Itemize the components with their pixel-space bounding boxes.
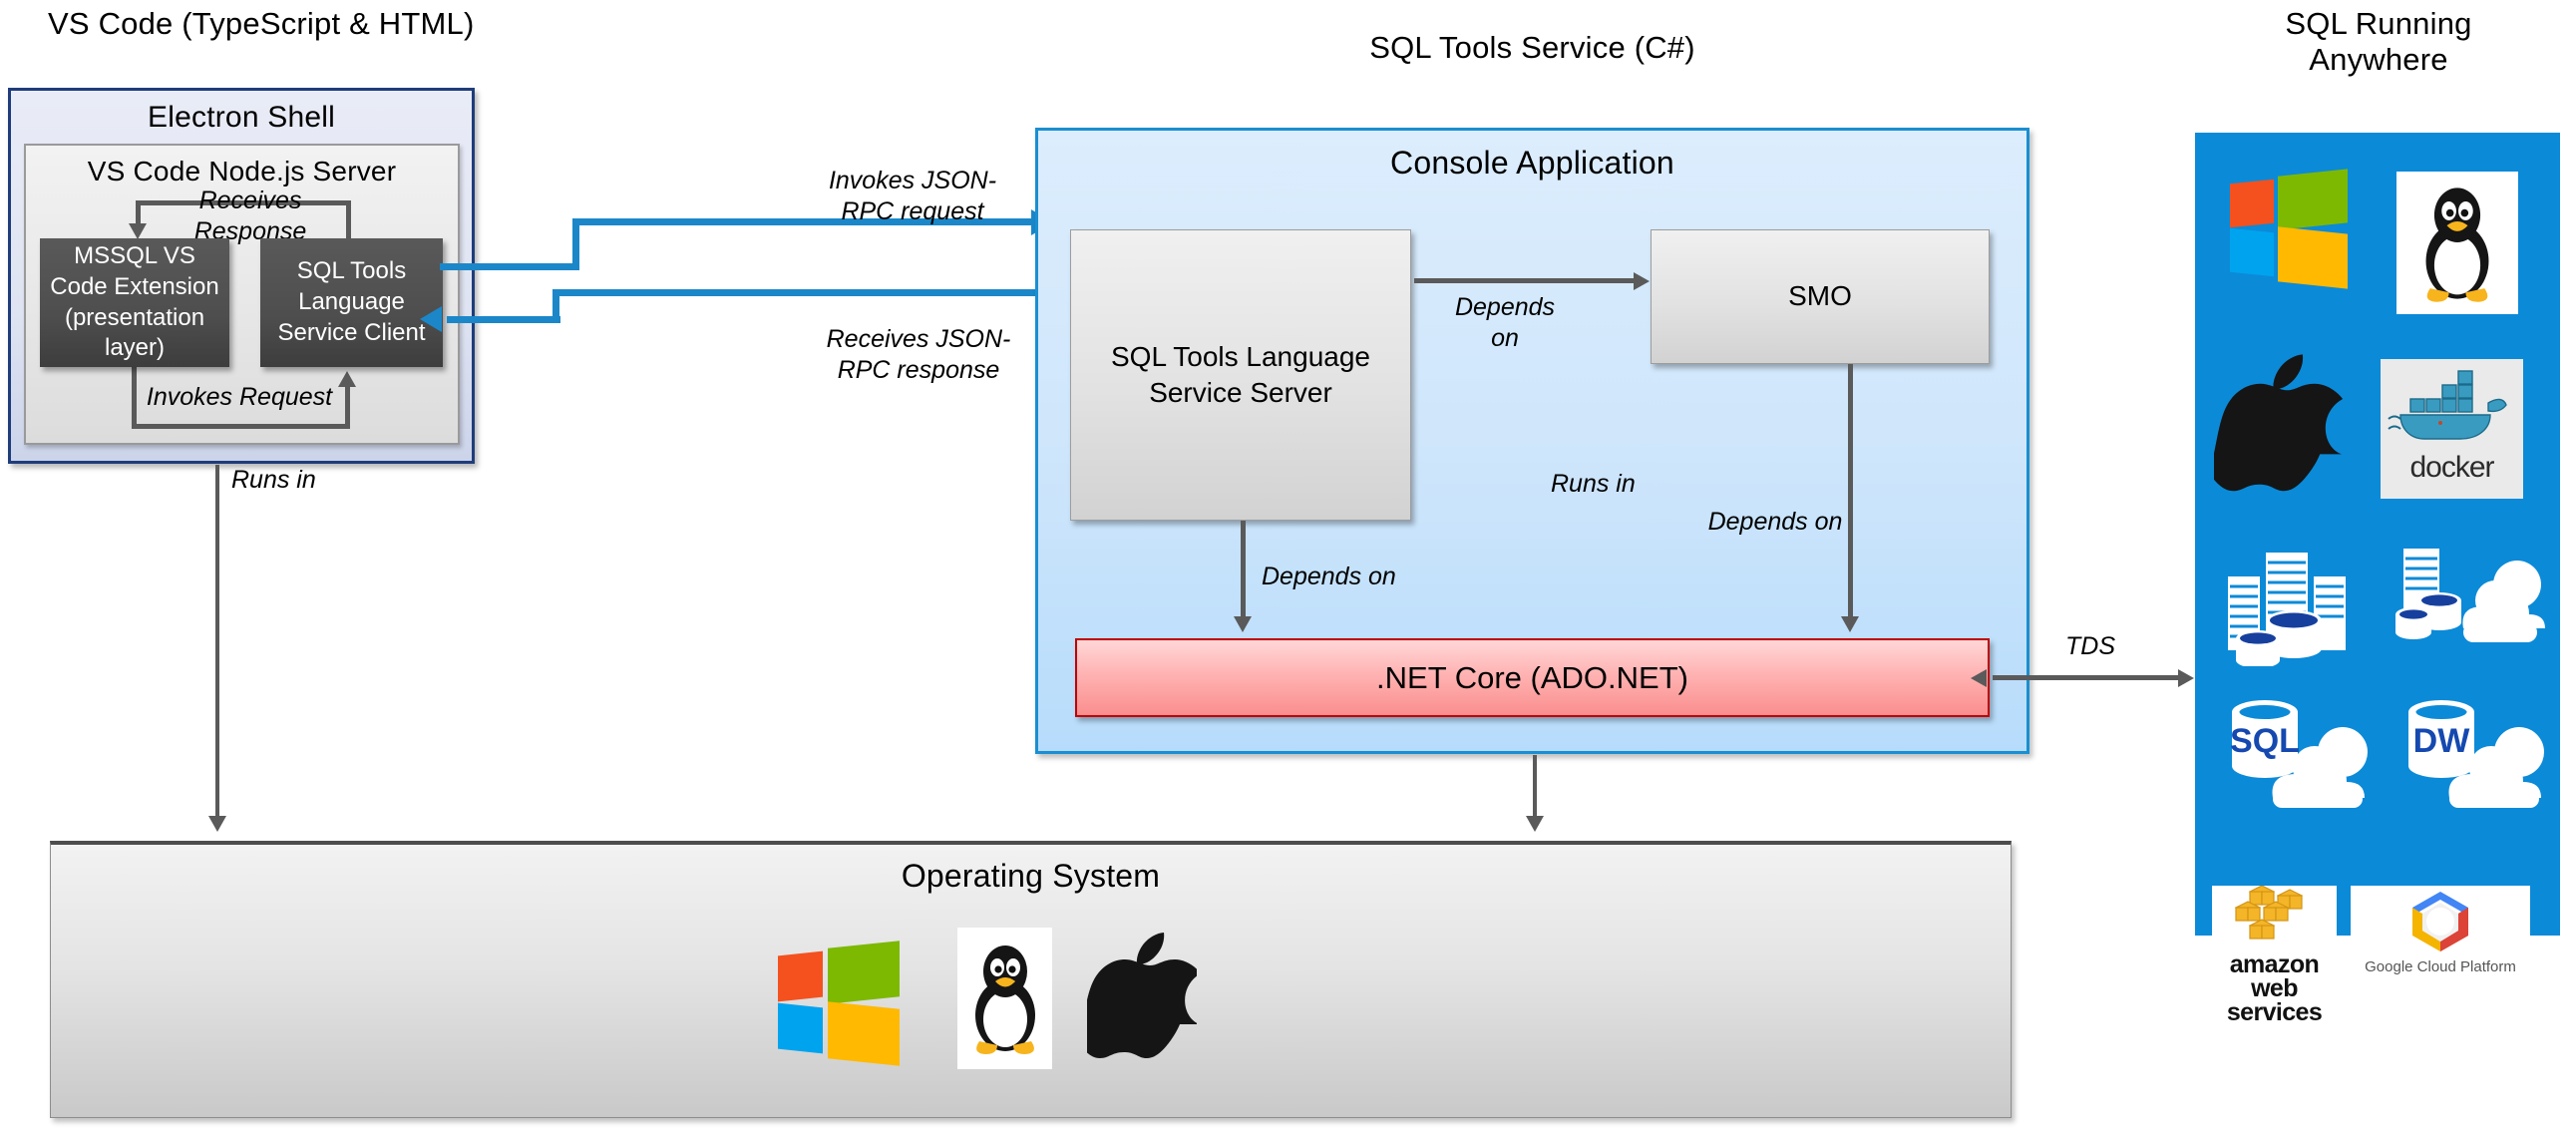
- runs-in-service-edge: [1533, 755, 1537, 820]
- docker-label: docker: [2381, 451, 2523, 485]
- sql-tools-language-service-client-box: SQL Tools Language Service Client: [260, 238, 443, 367]
- sql-tools-language-service-server-box: SQL Tools Language Service Server: [1070, 229, 1411, 521]
- tds-edge: [1993, 675, 2182, 680]
- vscode-title: VS Code (TypeScript & HTML): [10, 2, 588, 46]
- linux-tux-logo: [957, 928, 1052, 1069]
- dotnet-core-adonet-box: .NET Core (ADO.NET): [1075, 638, 1990, 717]
- runs-in-service-label: Runs in: [1551, 469, 1730, 500]
- docker-whale-logo: docker: [2381, 359, 2523, 499]
- invokes-request-edge-left: [132, 367, 137, 428]
- server-to-smo-label: Depends on: [1430, 292, 1580, 353]
- runs-in-vscode-edge: [215, 465, 219, 820]
- linux-tux-logo-cloud: [2396, 172, 2518, 314]
- tds-arrowhead-left: [1971, 669, 1987, 687]
- jsonrpc-response-seg3: [552, 289, 1037, 296]
- architecture-diagram: VS Code (TypeScript & HTML) SQL Tools Se…: [0, 0, 2576, 1134]
- invokes-request-arrowhead: [338, 371, 356, 387]
- apple-logo: [1087, 928, 1197, 1067]
- tds-arrowhead-right: [2178, 669, 2194, 687]
- svg-text:SQL: SQL: [2230, 722, 2300, 760]
- receives-response-arrowhead: [129, 223, 147, 239]
- apple-logo-cloud: [2214, 349, 2344, 501]
- datacenter-buildings-icon: [2220, 539, 2370, 666]
- invokes-request-edge-bottom: [132, 424, 350, 429]
- aws-logo: amazon web services: [2212, 886, 2337, 992]
- operating-system-label: Operating System: [50, 853, 2012, 899]
- electron-shell-label: Electron Shell: [8, 96, 475, 140]
- sql-tools-service-title: SQL Tools Service (C#): [1035, 26, 2029, 70]
- smo-box: SMO: [1651, 229, 1990, 364]
- windows-logo-cloud: [2230, 168, 2350, 285]
- smo-to-dotnet-arrowhead: [1841, 616, 1859, 632]
- receives-jsonrpc-response-label: Receives JSON- RPC response: [804, 324, 1033, 385]
- server-to-dotnet-edge: [1241, 521, 1246, 618]
- server-cloud-icon: [2392, 539, 2551, 666]
- jsonrpc-request-seg2: [572, 218, 579, 270]
- invokes-jsonrpc-request-label: Invokes JSON- RPC request: [798, 166, 1027, 226]
- aws-label: amazon web services: [2212, 953, 2337, 1024]
- server-to-dotnet-arrowhead: [1234, 616, 1252, 632]
- google-cloud-logo: Google Cloud Platform: [2351, 886, 2530, 992]
- smo-to-dotnet-edge: [1848, 364, 1853, 618]
- server-to-dotnet-label: Depends on: [1262, 562, 1451, 592]
- invokes-request-label: Invokes Request: [140, 382, 339, 413]
- mssql-vscode-extension-box: MSSQL VS Code Extension (presentation la…: [40, 238, 229, 367]
- server-to-smo-edge: [1414, 278, 1636, 283]
- receives-response-label: Receives Response: [151, 186, 350, 246]
- dw-database-cloud-icon: DW: [2392, 690, 2561, 812]
- runs-in-vscode-arrowhead: [208, 816, 226, 832]
- smo-to-dotnet-label: Depends on: [1695, 507, 1855, 538]
- runs-in-vscode-label: Runs in: [231, 465, 411, 496]
- tds-label: TDS: [2021, 631, 2160, 662]
- sql-database-cloud-icon: SQL: [2215, 690, 2385, 812]
- invokes-request-edge-right: [345, 387, 350, 429]
- jsonrpc-response-seg4: [447, 316, 560, 323]
- jsonrpc-request-seg1: [440, 263, 579, 270]
- windows-logo: [778, 940, 904, 1065]
- jsonrpc-response-arrowhead: [420, 306, 442, 332]
- console-application-label: Console Application: [1035, 140, 2029, 186]
- server-to-smo-arrowhead: [1634, 272, 1650, 290]
- svg-text:DW: DW: [2413, 722, 2471, 760]
- gcp-label: Google Cloud Platform: [2351, 958, 2530, 975]
- runs-in-service-arrowhead: [1526, 816, 1544, 832]
- sql-running-anywhere-title: SQL Running Anywhere: [2184, 0, 2573, 90]
